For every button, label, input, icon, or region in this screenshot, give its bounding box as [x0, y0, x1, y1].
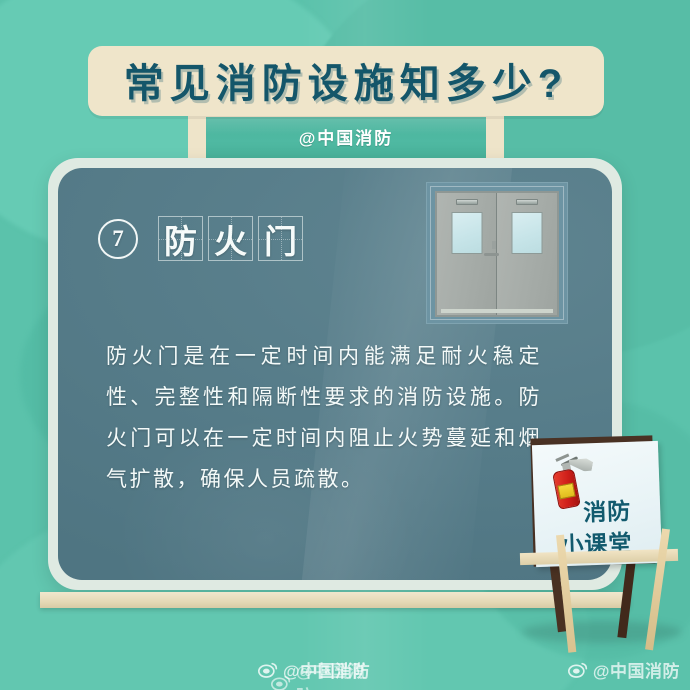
door-assembly [435, 191, 559, 317]
title-plate: 常见消防设施知多少? [88, 46, 604, 116]
watermark-left-duplicate: @中国消防 [271, 657, 370, 690]
page-title: 常见消防设施知多少? [124, 51, 568, 109]
body-paragraph: 防火门是在一定时间内能满足耐火稳定性、完整性和隔断性要求的消防设施。防火门可以在… [106, 336, 542, 500]
door-threshold [441, 309, 553, 313]
easel-shadow [522, 621, 682, 643]
easel-illustration: 消防 小课堂 [512, 425, 690, 650]
door-closer-icon [456, 199, 478, 205]
fire-door-photo [426, 182, 568, 324]
door-glass-panel [451, 212, 482, 254]
watermark-right: @中国消防 [568, 657, 680, 682]
section-heading: 7 防 火 门 [98, 216, 308, 261]
door-handle-icon [484, 253, 499, 256]
section-number-badge: 7 [98, 219, 138, 259]
heading-character-grid: 防 火 门 [158, 216, 308, 261]
heading-char-cell: 火 [208, 216, 253, 261]
heading-char-cell: 防 [158, 216, 203, 261]
door-lock-icon [492, 241, 496, 249]
watermark-right-text: @中国消防 [593, 657, 680, 682]
heading-char-cell: 门 [258, 216, 303, 261]
easel-poster: 消防 小课堂 [532, 441, 662, 567]
door-closer-icon [516, 199, 538, 205]
watermark-left-duplicate-text: @中国消防 [296, 657, 370, 690]
weibo-icon [271, 674, 291, 690]
watermark-left: @中国消防 @中国消防 [258, 657, 370, 682]
weibo-icon [568, 661, 588, 678]
door-leaf-right [497, 193, 557, 315]
door-glass-panel [512, 212, 543, 254]
page-subtitle: @中国消防 [206, 124, 486, 149]
